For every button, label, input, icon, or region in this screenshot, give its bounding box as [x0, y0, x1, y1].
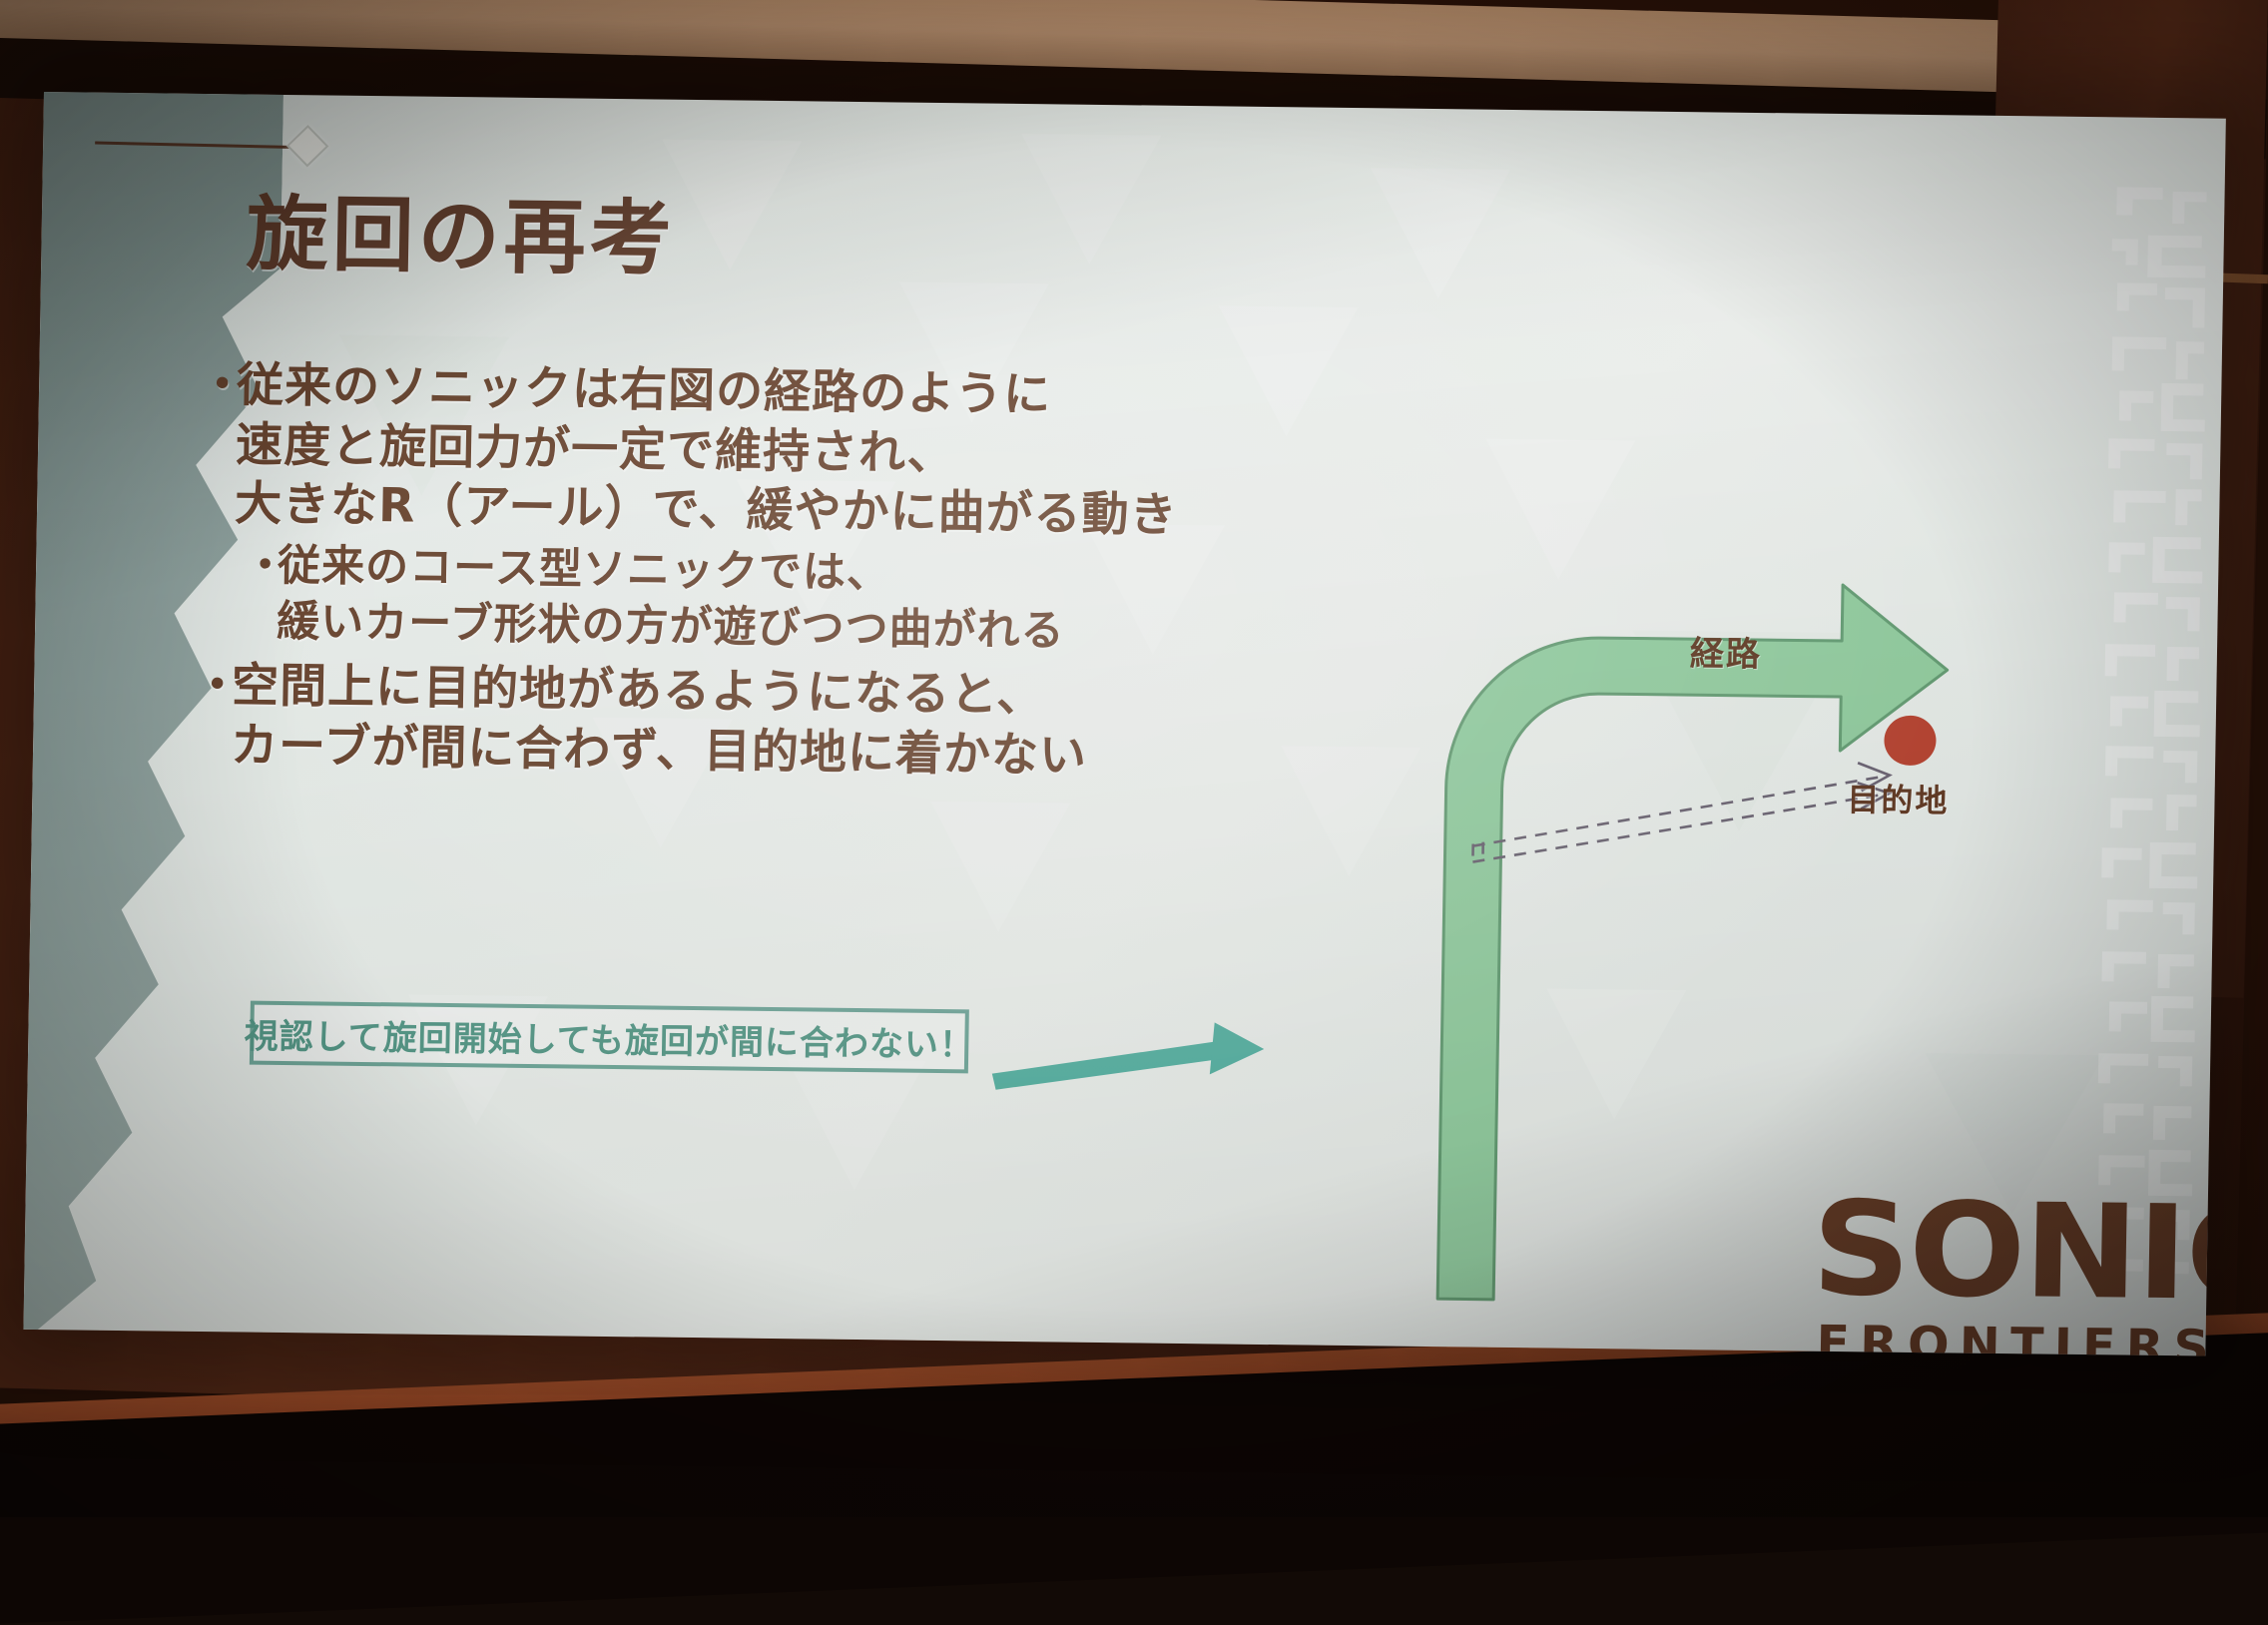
page-title: 旋回の再考 — [246, 194, 676, 280]
bullet-item-2-text: 従来のコース型ソニックでは、 緩いカーブ形状の方が遊びつつ曲がれる — [277, 539, 1066, 660]
bullet-item-2: ・ 従来のコース型ソニックでは、 緩いカーブ形状の方が遊びつつ曲がれる — [243, 539, 1594, 667]
bullet-list: ・ 従来のソニックは右図の経路のように 速度と旋回力が一定で維持され、 大きなR… — [193, 355, 1597, 796]
bullet-marker-icon: ・ — [193, 656, 233, 776]
bullet-item-3-text: 空間上に目的地があるようになると、 カーブが間に合わず、目的地に着かない — [231, 656, 1089, 786]
logo-primary-text: SONIC — [1811, 1187, 2226, 1319]
highlight-callout-text: 視認して旋回開始しても旋回が間に合わない！ — [244, 1008, 974, 1066]
destination-label: 目的地 — [1847, 775, 1950, 821]
bullet-marker-icon: ・ — [197, 355, 238, 535]
sonic-frontiers-logo: SONIC FRONTIERS — [1810, 1187, 2226, 1356]
bullet-item-1: ・ 従来のソニックは右図の経路のように 速度と旋回力が一定で維持され、 大きなR… — [197, 355, 1597, 551]
bullet-marker-icon: ・ — [243, 539, 279, 651]
pointer-arrow-icon — [985, 1002, 1287, 1116]
bullet-item-1-text: 従来のソニックは右図の経路のように 速度と旋回力が一定で維持され、 大きなR（ア… — [235, 355, 1180, 546]
highlight-callout-box: 視認して旋回開始しても旋回が間に合わない！ — [250, 1001, 969, 1074]
bullet-item-3: ・ 空間上に目的地があるようになると、 カーブが間に合わず、目的地に着かない — [193, 656, 1592, 792]
presentation-slide: 旋回の再考 ・ 従来のソニックは右図の経路のように 速度と旋回力が一定で維持され… — [23, 92, 2225, 1356]
projection-screen: 旋回の再考 ・ 従来のソニックは右図の経路のように 速度と旋回力が一定で維持され… — [23, 92, 2225, 1356]
logo-secondary-text: FRONTIERS — [1816, 1316, 2226, 1356]
route-label: 経路 — [1690, 626, 1763, 676]
